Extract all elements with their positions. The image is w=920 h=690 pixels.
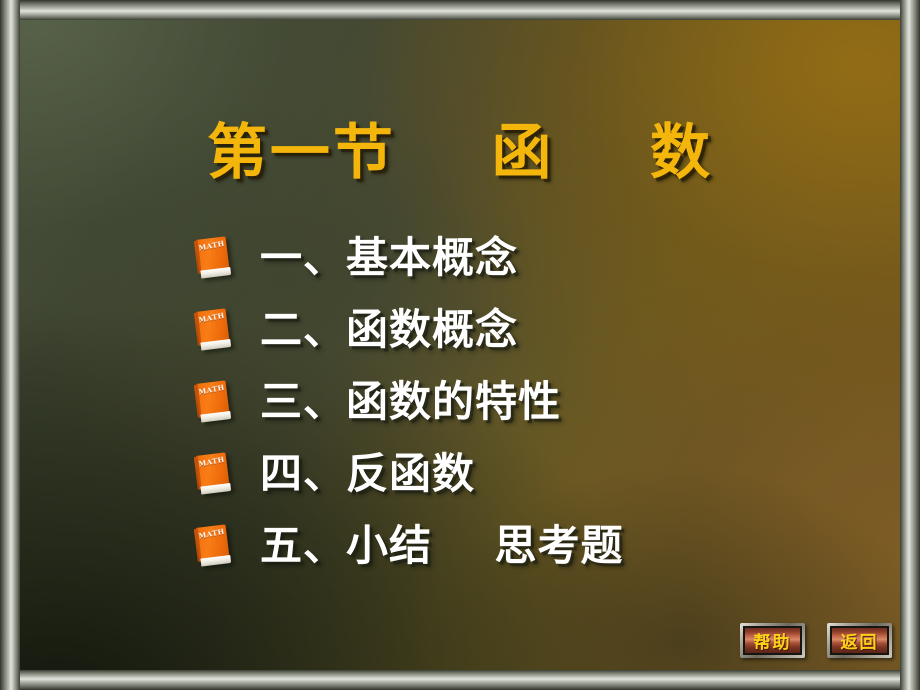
bullet-item-label: 一、基本概念: [260, 237, 518, 279]
frame-top-edge: [0, 0, 920, 20]
bullet-item-2[interactable]: MATH 二、函数概念: [196, 300, 624, 360]
math-book-icon: MATH: [194, 236, 233, 280]
bullet-item-4[interactable]: MATH 四、反函数: [196, 444, 624, 504]
bullet-item-1[interactable]: MATH 一、基本概念: [196, 228, 624, 288]
bullet-item-label: 五、小结 思考题: [260, 525, 624, 567]
math-book-icon: MATH: [194, 452, 233, 496]
slide-title: 第一节 函 数: [0, 104, 920, 191]
math-book-icon: MATH: [194, 308, 233, 352]
return-button-label: 返回: [841, 628, 879, 653]
help-button[interactable]: 帮助: [740, 623, 805, 658]
help-button-face: 帮助: [743, 626, 802, 655]
return-button[interactable]: 返回: [827, 623, 892, 658]
presentation-slide: 第一节 函 数 MATH 一、基本概念 MATH 二、函数概念: [0, 0, 920, 690]
navigation-button-group: 帮助 返回: [740, 623, 892, 658]
return-button-face: 返回: [830, 626, 889, 655]
bullet-item-label: 四、反函数: [260, 453, 475, 495]
bullet-list: MATH 一、基本概念 MATH 二、函数概念 MATH 三、函数的特性: [196, 228, 624, 576]
frame-bottom-edge: [0, 670, 920, 690]
bullet-item-5[interactable]: MATH 五、小结 思考题: [196, 516, 624, 576]
bullet-item-3[interactable]: MATH 三、函数的特性: [196, 372, 624, 432]
math-book-icon: MATH: [194, 524, 233, 568]
help-button-label: 帮助: [754, 628, 792, 653]
bullet-item-label: 三、函数的特性: [260, 381, 561, 423]
bullet-item-label: 二、函数概念: [260, 309, 518, 351]
math-book-icon: MATH: [194, 380, 233, 424]
